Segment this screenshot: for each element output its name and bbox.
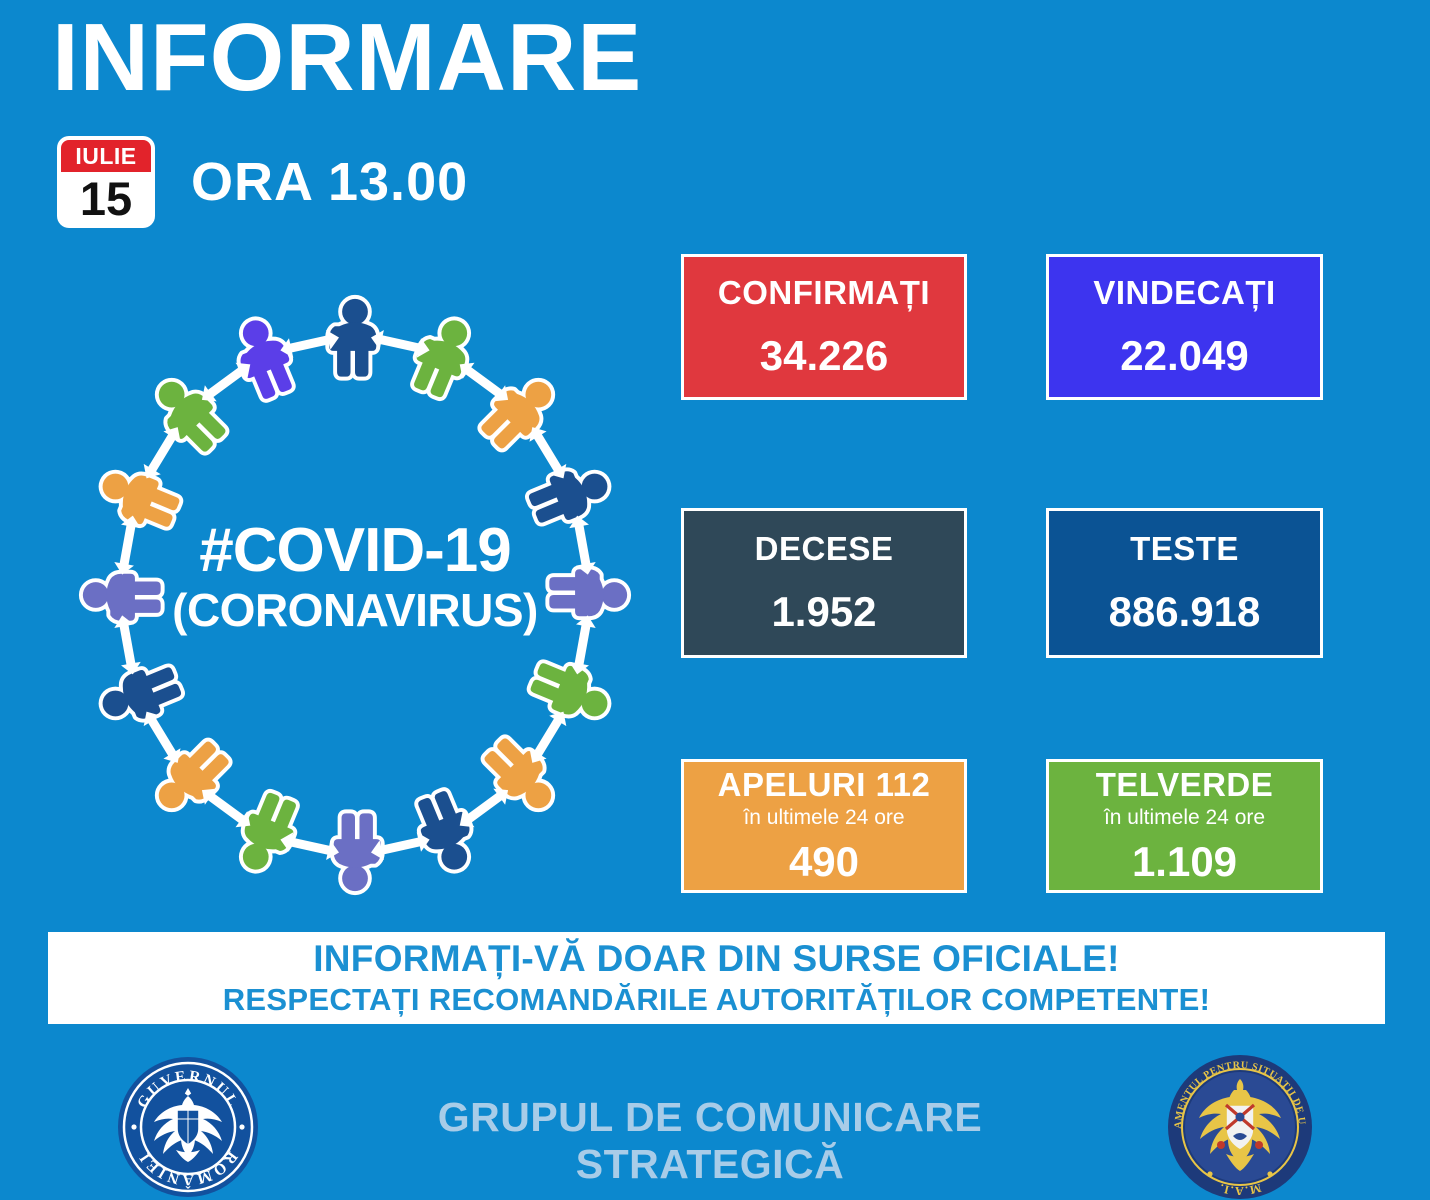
person-figure [231,789,304,879]
stat-note-telverde: în ultimele 24 ore [1104,805,1265,830]
stat-card-decese[interactable]: DECESE 1.952 [681,508,967,658]
page-title: INFORMARE [52,8,642,109]
stat-note-apeluri-112: în ultimele 24 ore [743,805,904,830]
footer-text: GRUPUL DE COMUNICARE STRATEGICĂ [300,1094,1120,1188]
distance-arrow [454,356,514,408]
guvernul-romaniei-logo: GUVERNUL ROMÂNIEI [116,1055,260,1199]
stat-label-decese: DECESE [755,531,894,567]
person-figure [410,787,483,877]
distance-arrow [196,356,256,408]
date-bar: IULIE 15 ORA 13.00 [57,136,468,228]
person-figure [406,311,479,401]
stat-label-confirmati: CONFIRMAȚI [718,275,930,311]
dsu-logo: DEPARTAMENTUL PENTRU SITUAȚII DE URGENȚĂ… [1166,1053,1314,1200]
official-sources-banner: INFORMAȚI-VĂ DOAR DIN SURSE OFICIALE! RE… [48,932,1385,1024]
stat-card-telverde[interactable]: TELVERDE în ultimele 24 ore 1.109 [1046,759,1323,893]
stat-label-teste: TESTE [1130,531,1239,567]
stat-value-decese: 1.952 [771,589,876,635]
stat-label-vindecati: VINDECAȚI [1093,275,1275,311]
person-figure [94,462,184,535]
stat-label-apeluri-112: APELURI 112 [718,767,931,803]
banner-line-2: RESPECTAȚI RECOMANDĂRILE AUTORITĂȚILOR C… [223,983,1210,1017]
stat-card-confirmati[interactable]: CONFIRMAȚI 34.226 [681,254,967,400]
stat-value-vindecati: 22.049 [1120,333,1248,379]
social-distancing-illustration: .pfill{fill:currentColor;stroke:none} #C… [55,290,655,910]
stat-value-telverde: 1.109 [1132,839,1237,885]
calendar-day: 15 [61,172,151,224]
person-figure [525,458,615,531]
people-circle-svg: .pfill{fill:currentColor;stroke:none} [55,290,655,910]
people-ring [83,299,627,891]
person-figure [526,655,616,728]
calendar-icon: IULIE 15 [57,136,155,228]
stat-card-apeluri-112[interactable]: APELURI 112 în ultimele 24 ore 490 [681,759,967,893]
distance-arrow [454,782,514,834]
distance-arrow [196,782,256,834]
banner-line-1: INFORMAȚI-VĂ DOAR DIN SURSE OFICIALE! [313,939,1120,980]
stat-label-telverde: TELVERDE [1096,767,1274,803]
person-figure [95,659,185,732]
stat-card-vindecati[interactable]: VINDECAȚI 22.049 [1046,254,1323,400]
hour-label: ORA 13.00 [191,151,468,213]
stat-value-apeluri-112: 490 [789,839,859,885]
person-figure [549,569,627,616]
person-figure [227,313,300,403]
calendar-month: IULIE [61,140,151,172]
person-figure [83,574,161,621]
stat-value-teste: 886.918 [1109,589,1261,635]
covid-information-poster: INFORMARE IULIE 15 ORA 13.00 .pfill{fill… [0,0,1430,1200]
stat-value-confirmati: 34.226 [760,333,888,379]
stat-card-teste[interactable]: TESTE 886.918 [1046,508,1323,658]
